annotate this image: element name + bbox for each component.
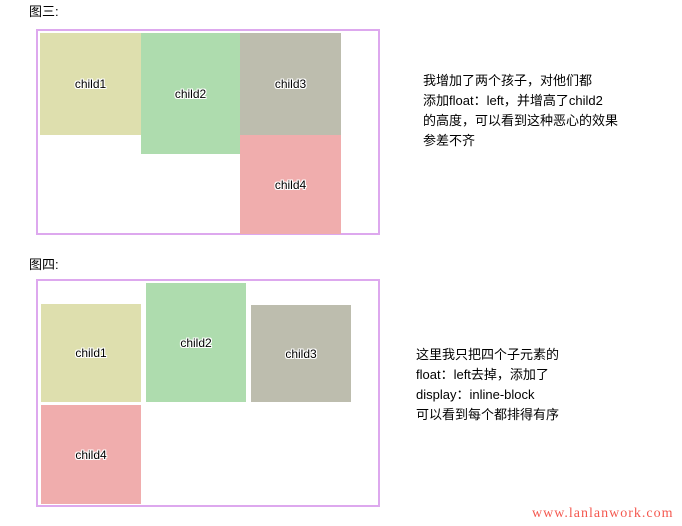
figure-3-child1-label: child1 [75, 77, 106, 91]
figure-3-annotation-text: 我增加了两个孩子，对他们都 添加float：left，并增高了child2 的高… [423, 71, 673, 151]
figure-3-child2-label: child2 [175, 87, 206, 101]
figure-3-child1-box: child1 [40, 33, 141, 135]
figure-3-child3-label: child3 [275, 77, 306, 91]
figure-4-child3-label: child3 [285, 347, 316, 361]
figure-4-container: child1 child2 child3 child4 [36, 279, 380, 507]
figure-4-child2-label: child2 [180, 336, 211, 350]
figure-3-caption: 图三: [29, 4, 59, 20]
figure-4-caption: 图四: [29, 257, 59, 273]
figure-3-child3-box: child3 [240, 33, 341, 135]
figure-4-child4-box: child4 [41, 405, 141, 504]
figure-4-child2-box: child2 [146, 283, 246, 402]
figure-3-child2-box: child2 [141, 33, 240, 154]
figure-3-child4-box: child4 [240, 135, 341, 234]
figure-4-child1-label: child1 [75, 346, 106, 360]
figure-3-container: child1 child2 child3 child4 [36, 29, 380, 235]
figure-4-annotation-text: 这里我只把四个子元素的 float：left去掉，添加了 display：inl… [416, 345, 672, 425]
figure-3-child4-label: child4 [275, 178, 306, 192]
figure-4-child1-box: child1 [41, 304, 141, 402]
figure-4-child4-label: child4 [75, 448, 106, 462]
site-watermark: www.lanlanwork.com [532, 506, 674, 522]
figure-4-child3-box: child3 [251, 305, 351, 402]
